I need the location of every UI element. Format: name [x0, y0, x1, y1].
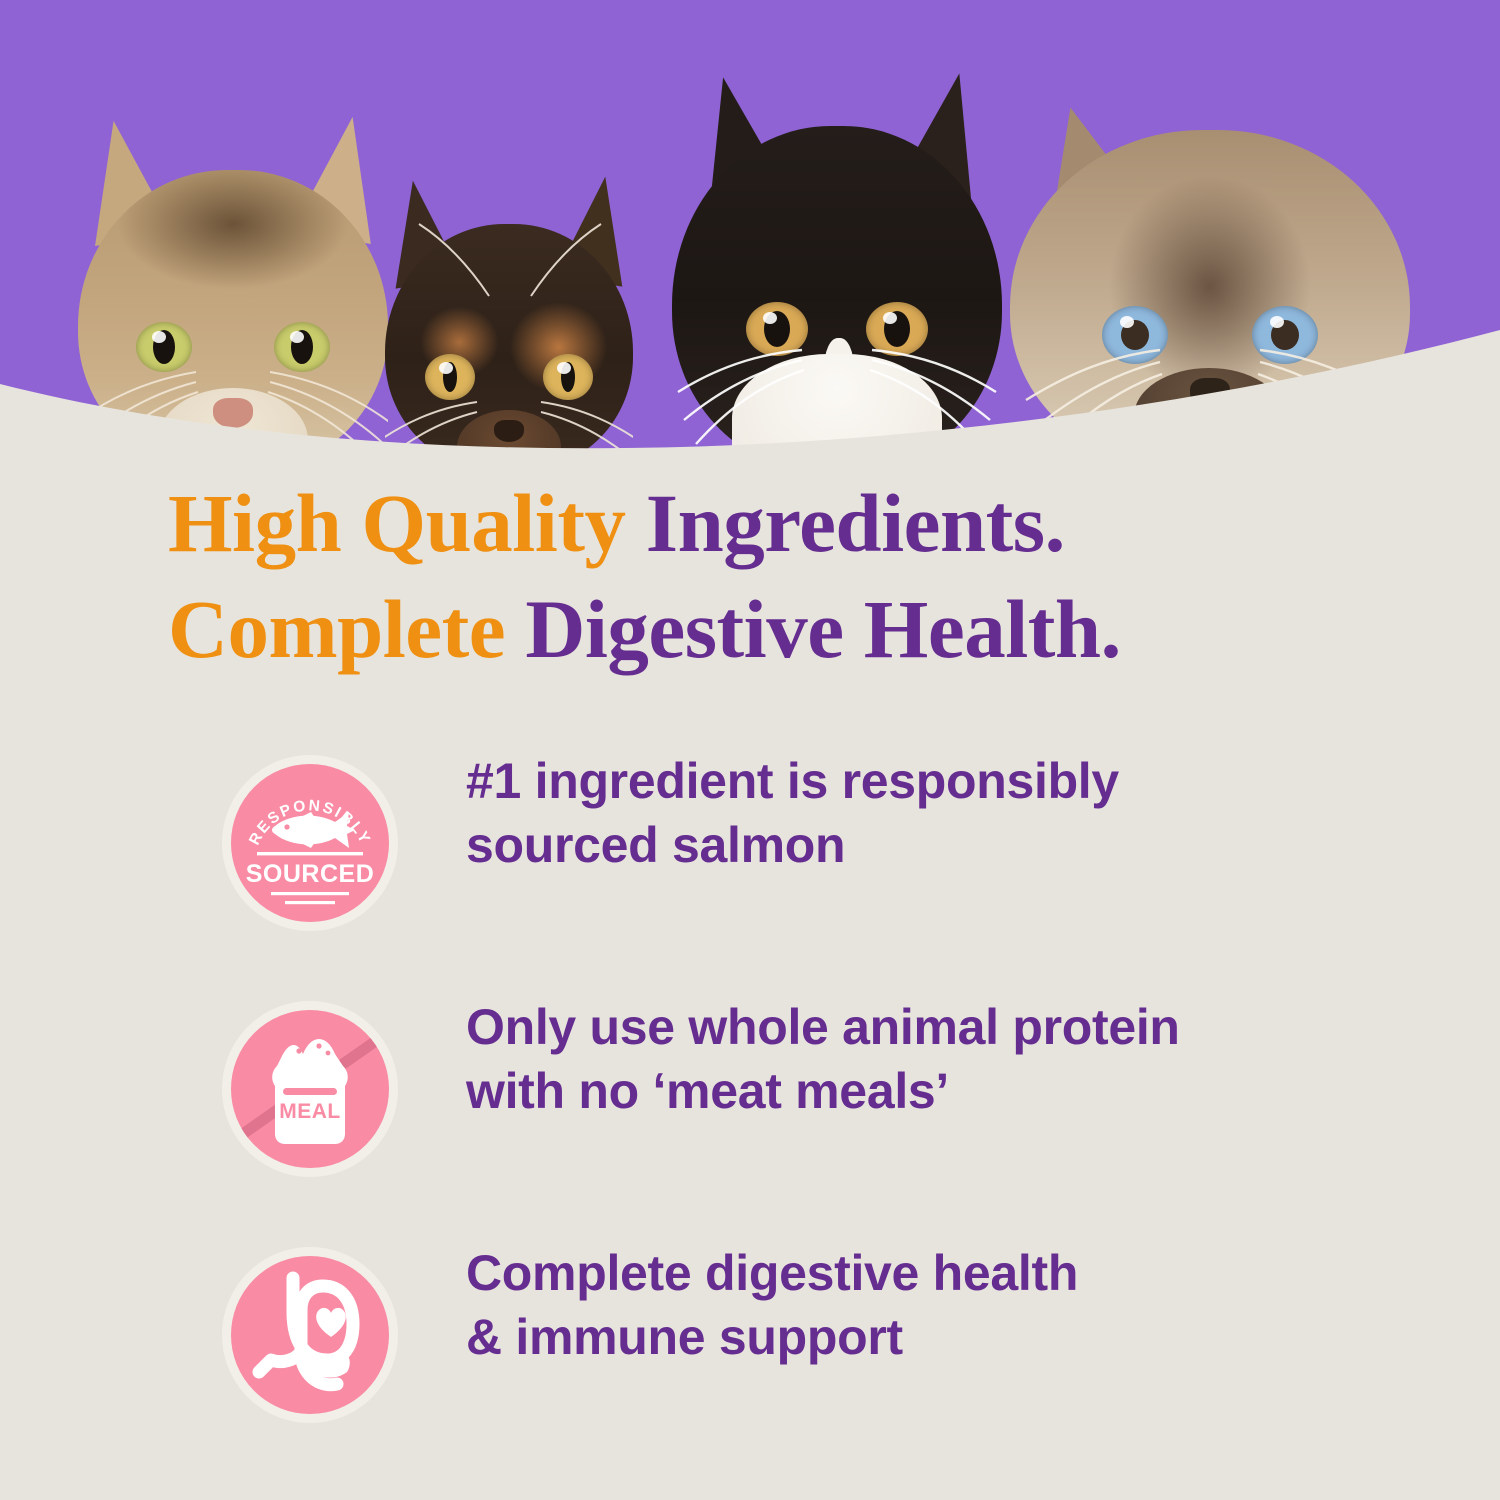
feature-text: #1 ingredient is responsibly sourced sal…	[466, 749, 1336, 877]
feature-list: RESPONSIBLY SOURCED #1 ingredi	[0, 755, 1500, 1493]
responsibly-sourced-fish-badge-icon: RESPONSIBLY SOURCED	[222, 755, 398, 931]
feature-text: Complete digestive health & immune suppo…	[466, 1241, 1336, 1369]
feature-line-2: & immune support	[466, 1305, 1336, 1369]
feature-item: RESPONSIBLY SOURCED #1 ingredi	[0, 755, 1500, 945]
feature-line-1: Complete digestive health	[466, 1241, 1336, 1305]
feature-item: MEAL Only use whole animal protein with …	[0, 1001, 1500, 1191]
feature-item: Complete digestive health & immune suppo…	[0, 1247, 1500, 1437]
page-headline: High Quality Ingredients. Complete Diges…	[168, 470, 1408, 682]
badge-main-text: SOURCED	[246, 860, 375, 888]
stomach-heart-digestive-badge-icon	[222, 1247, 398, 1423]
feature-line-1: Only use whole animal protein	[466, 995, 1336, 1059]
headline-purple-1: Ingredients.	[646, 477, 1065, 569]
feature-line-2: sourced salmon	[466, 813, 1336, 877]
feature-line-2: with no ‘meat meals’	[466, 1059, 1336, 1123]
feature-text: Only use whole animal protein with no ‘m…	[466, 995, 1336, 1123]
headline-purple-2: Digestive Health.	[525, 583, 1120, 675]
headline-line-1: High Quality Ingredients.	[168, 470, 1408, 576]
cat-ear-right	[1297, 90, 1390, 113]
feature-line-1: #1 ingredient is responsibly	[466, 749, 1336, 813]
content-section: High Quality Ingredients. Complete Diges…	[0, 400, 1500, 1500]
meal-bag-icon: MEAL	[272, 1039, 348, 1144]
headline-orange-2: Complete	[168, 583, 505, 675]
headline-line-2: Complete Digestive Health.	[168, 576, 1408, 682]
headline-orange-1: High Quality	[168, 477, 626, 569]
badge-main-text: MEAL	[279, 1100, 341, 1123]
no-meat-meal-bag-badge-icon: MEAL	[222, 1001, 398, 1177]
